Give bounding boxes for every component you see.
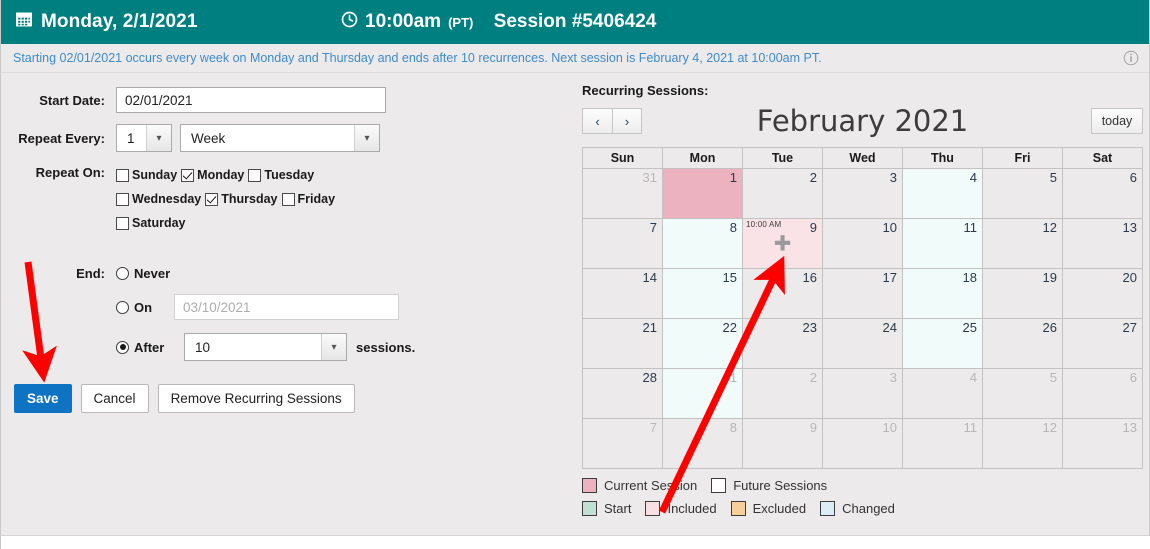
day-number: 2 [810,170,817,185]
calendar-day-cell[interactable]: 17 [822,269,902,318]
day-number: 6 [1130,370,1137,385]
dow-sat: Sat [1062,148,1142,168]
day-number: 12 [1043,220,1057,235]
title-bar: Monday, 2/1/2021 10:00am (PT) Session #5… [1,0,1149,44]
session-time-text: 10:00am [365,11,441,33]
calendar-day-cell[interactable]: 12 [982,219,1062,268]
calendar-day-cell[interactable]: 10 [822,419,902,468]
calendar-day-cell[interactable]: 26 [982,319,1062,368]
day-number: 1 [730,170,737,185]
end-on-radio[interactable]: On [116,300,174,315]
calendar-title: February 2021 [582,104,1143,138]
repeat-on-daygroup: Sunday Monday Tuesday Wednesday [116,163,406,235]
calendar-day-cell[interactable]: 14 [583,269,662,318]
calendar-day-cell[interactable]: 1 [662,369,742,418]
dow-tue: Tue [742,148,822,168]
end-never-radio[interactable]: Never [116,266,174,281]
calendar-day-cell[interactable]: 11 [902,419,982,468]
end-never-label: Never [134,266,170,281]
remove-recurring-sessions-button[interactable]: Remove Recurring Sessions [158,384,355,413]
day-number: 1 [730,370,737,385]
chevron-down-icon: ▾ [146,125,171,151]
start-date-label: Start Date: [1,93,116,108]
calendar-week-row: 21222324252627 [583,318,1142,368]
day-number: 10 [883,220,897,235]
day-label: Sunday [132,163,177,187]
legend-item: Changed [820,501,895,516]
calendar-day-cell[interactable]: 20 [1062,269,1142,318]
clock-icon [341,11,358,34]
cancel-button[interactable]: Cancel [81,384,149,413]
day-number: 12 [1043,420,1057,435]
checkbox-box [248,169,261,182]
session-date: Monday, 2/1/2021 [15,10,198,34]
legend-row-states: StartIncludedExcludedChanged [582,501,1149,516]
repeat-interval-value: 1 [117,131,146,146]
end-after-label: After [134,340,164,355]
day-label: Friday [298,187,336,211]
end-on-row: On 03/10/2021 [1,294,576,320]
day-checkbox-friday[interactable]: Friday [282,187,336,211]
session-timezone: (PT) [448,15,473,30]
legend-item: Included [645,501,716,516]
legend-label: Current Session [604,478,697,493]
calendar-day-cell[interactable]: 24 [822,319,902,368]
day-number: 15 [723,270,737,285]
day-number: 17 [883,270,897,285]
end-after-radio[interactable]: After [116,340,174,355]
legend-label: Changed [842,501,895,516]
bottom-strip [1,535,1150,549]
dow-thu: Thu [902,148,982,168]
day-checkbox-thursday[interactable]: Thursday [205,187,277,211]
end-after-row: After 10 ▾ sessions. [1,333,576,361]
calendar-day-cell[interactable]: 10 [822,219,902,268]
calendar-day-cell[interactable]: 25 [902,319,982,368]
calendar-day-cell[interactable]: 5 [982,369,1062,418]
checkbox-box [205,193,218,206]
day-number: 19 [1043,270,1057,285]
dow-sun: Sun [583,148,662,168]
day-checkbox-monday[interactable]: Monday [181,163,244,187]
repeat-on-label: Repeat On: [1,163,116,180]
day-number: 23 [803,320,817,335]
day-number: 13 [1123,220,1137,235]
sessions-suffix-label: sessions. [356,340,415,355]
end-on-date-input[interactable]: 03/10/2021 [174,294,399,320]
session-date-text: Monday, 2/1/2021 [41,11,198,33]
legend-label: Future Sessions [733,478,827,493]
day-label: Saturday [132,211,186,235]
repeat-on-row: Repeat On: Sunday Monday Tuesday [1,163,576,235]
radio-dot [116,267,129,280]
calendar-day-cell[interactable]: 16 [742,269,822,318]
info-icon[interactable] [1123,50,1139,66]
radio-dot [116,341,129,354]
day-number: 13 [1123,420,1137,435]
day-number: 16 [803,270,817,285]
end-never-row: End: Never [1,266,576,281]
day-number: 31 [643,170,657,185]
day-number: 24 [883,320,897,335]
session-time: 10:00am (PT) [341,11,473,34]
calendar-day-cell[interactable]: 7 [583,419,662,468]
day-number: 9 [810,220,817,235]
checkbox-box [116,169,129,182]
day-number: 28 [643,370,657,385]
day-number: 27 [1123,320,1137,335]
calendar-day-cell[interactable]: 1 [662,169,742,218]
day-number: 5 [1050,370,1057,385]
calendar-day-cell[interactable]: 8 [662,219,742,268]
dow-mon: Mon [662,148,742,168]
calendar-day-cell[interactable]: 22 [662,319,742,368]
checkbox-box [181,169,194,182]
calendar-day-cell[interactable]: 27 [1062,319,1142,368]
legend-item: Current Session [582,478,697,493]
recurring-sessions-panel: Recurring Sessions: ‹ › February 2021 to… [576,73,1149,528]
day-label: Monday [197,163,244,187]
day-number: 22 [723,320,737,335]
calendar-legend: Current SessionFuture Sessions StartIncl… [582,478,1149,516]
recurrence-summary-banner: Starting 02/01/2021 occurs every week on… [1,44,1149,73]
today-button[interactable]: today [1091,108,1143,134]
dow-fri: Fri [982,148,1062,168]
repeat-unit-value: Week [181,131,354,146]
calendar-day-cell[interactable]: 4 [902,169,982,218]
day-number: 3 [890,370,897,385]
calendar-day-cell[interactable]: 13 [1062,219,1142,268]
calendar-day-cell[interactable]: 8 [662,419,742,468]
chevron-down-icon: ▾ [354,125,379,151]
calendar-day-cell[interactable]: 9 [742,419,822,468]
calendar-day-cell[interactable]: 28 [583,369,662,418]
day-number: 7 [650,220,657,235]
recurrence-summary-text: Starting 02/01/2021 occurs every week on… [13,51,1123,65]
day-checkbox-wednesday[interactable]: Wednesday [116,187,201,211]
calendar-day-cell[interactable]: 7 [583,219,662,268]
day-number: 9 [810,420,817,435]
calendar-day-cell[interactable]: 4 [902,369,982,418]
legend-label: Excluded [753,501,806,516]
day-of-week-header: Sun Mon Tue Wed Thu Fri Sat [583,147,1142,168]
day-number: 6 [1130,170,1137,185]
calendar-week-row: 14151617181920 [583,268,1142,318]
day-number: 8 [730,420,737,435]
calendar-week-row: 78910111213 [583,418,1142,468]
calendar-nav-group: ‹ › [582,108,642,134]
editor-body: Start Date: Repeat Every: 1 ▾ Week ▾ Rep… [1,73,1149,528]
legend-item: Excluded [731,501,806,516]
day-number: 2 [810,370,817,385]
plus-icon[interactable]: ✚ [774,234,792,255]
repeat-every-row: Repeat Every: 1 ▾ Week ▾ [1,124,576,152]
recurring-session-editor: Monday, 2/1/2021 10:00am (PT) Session #5… [0,0,1150,549]
day-checkbox-tuesday[interactable]: Tuesday [248,163,314,187]
day-checkbox-sunday[interactable]: Sunday [116,163,177,187]
legend-label: Included [667,501,716,516]
legend-swatch [711,478,726,493]
chevron-down-icon: ▾ [321,334,346,360]
day-number: 4 [970,170,977,185]
calendar-day-cell[interactable]: 10:00 AM9✚ [742,219,822,268]
form-actions: Save Cancel Remove Recurring Sessions [14,384,576,413]
calendar-week-row: 7810:00 AM9✚10111213 [583,218,1142,268]
day-number: 10 [883,420,897,435]
end-after-count-value: 10 [185,340,321,355]
calendar-day-cell[interactable]: 11 [902,219,982,268]
calendar-day-cell[interactable]: 15 [662,269,742,318]
day-checkbox-saturday[interactable]: Saturday [116,211,186,235]
day-number: 5 [1050,170,1057,185]
calendar-day-cell[interactable]: 13 [1062,419,1142,468]
legend-item: Start [582,501,631,516]
legend-swatch [731,501,746,516]
calendar-toolbar: ‹ › February 2021 today [582,104,1143,138]
checkbox-box [116,193,129,206]
calendar-day-cell[interactable]: 21 [583,319,662,368]
legend-item: Future Sessions [711,478,827,493]
calendar-week-row: 31123456 [583,168,1142,218]
day-label: Wednesday [132,187,201,211]
day-label: Tuesday [264,163,314,187]
legend-swatch [645,501,660,516]
legend-label: Start [604,501,631,516]
calendar-day-cell[interactable]: 6 [1062,169,1142,218]
day-number: 3 [890,170,897,185]
calendar-day-cell[interactable]: 31 [583,169,662,218]
checkbox-box [282,193,295,206]
calendar-day-cell[interactable]: 5 [982,169,1062,218]
end-label: End: [1,266,116,281]
recurring-sessions-label: Recurring Sessions: [582,83,1149,98]
calendar-week-row: 28123456 [583,368,1142,418]
day-number: 18 [963,270,977,285]
calendar-day-cell[interactable]: 12 [982,419,1062,468]
calendar-weeks: 311234567810:00 AM9✚10111213141516171819… [583,168,1142,468]
end-after-count-select[interactable]: 10 ▾ [184,333,347,361]
day-number: 26 [1043,320,1057,335]
session-time-chip: 10:00 AM [746,220,781,229]
repeat-interval-select[interactable]: 1 ▾ [116,124,172,152]
checkbox-box [116,217,129,230]
calendar-day-cell[interactable]: 2 [742,369,822,418]
calendar-day-cell[interactable]: 23 [742,319,822,368]
calendar-day-cell[interactable]: 19 [982,269,1062,318]
legend-swatch [820,501,835,516]
repeat-every-label: Repeat Every: [1,131,116,146]
save-button[interactable]: Save [14,384,72,413]
calendar-day-cell[interactable]: 18 [902,269,982,318]
dow-wed: Wed [822,148,902,168]
recurrence-form: Start Date: Repeat Every: 1 ▾ Week ▾ Rep… [1,73,576,528]
day-number: 21 [643,320,657,335]
legend-swatch [582,501,597,516]
day-number: 20 [1123,270,1137,285]
day-number: 25 [963,320,977,335]
radio-dot [116,301,129,314]
prev-month-button[interactable]: ‹ [582,108,612,134]
day-number: 14 [643,270,657,285]
day-number: 11 [964,220,978,235]
calendar-icon [15,10,33,34]
calendar-day-cell[interactable]: 3 [822,369,902,418]
calendar-day-cell[interactable]: 6 [1062,369,1142,418]
day-number: 7 [650,420,657,435]
month-calendar: Sun Mon Tue Wed Thu Fri Sat 311234567810… [582,147,1143,469]
next-month-button[interactable]: › [612,108,642,134]
calendar-day-cell[interactable]: 3 [822,169,902,218]
calendar-day-cell[interactable]: 2 [742,169,822,218]
day-number: 11 [964,420,978,435]
start-date-row: Start Date: [1,87,576,113]
start-date-input[interactable] [116,87,386,113]
day-number: 8 [730,220,737,235]
day-number: 4 [970,370,977,385]
legend-row-sessions: Current SessionFuture Sessions [582,478,1149,493]
end-on-label: On [134,300,152,315]
repeat-unit-select[interactable]: Week ▾ [180,124,380,152]
legend-swatch [582,478,597,493]
day-label: Thursday [221,187,277,211]
